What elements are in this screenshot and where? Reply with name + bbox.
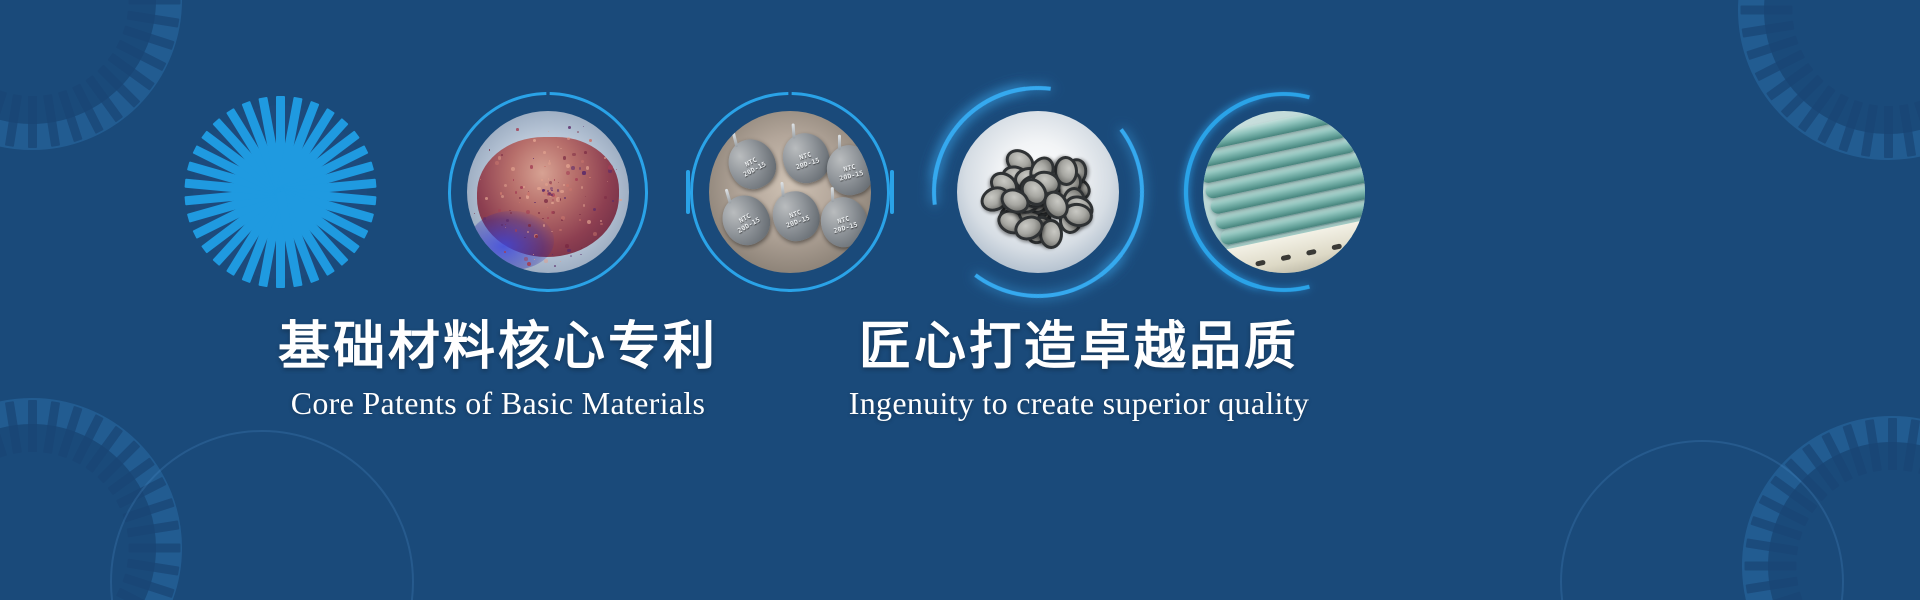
ring-tick-left [686, 170, 690, 214]
arc-ring-with-side-ticks [690, 92, 890, 292]
headline-right-english: Ingenuity to create superior quality [812, 382, 1346, 424]
feature-circle-row: NTC20D-15NTC20D-15NTC20D-15NTC20D-15NTC2… [0, 0, 1920, 300]
hero-banner: NTC20D-15NTC20D-15NTC20D-15NTC20D-15NTC2… [0, 0, 1920, 600]
ring-tick-right [890, 170, 894, 214]
feature-circle-2[interactable] [448, 92, 648, 292]
headline-right: 匠心打造卓越品质 Ingenuity to create superior qu… [812, 318, 1346, 424]
headline-left-english: Core Patents of Basic Materials [248, 382, 748, 424]
feature-circle-4[interactable] [938, 92, 1138, 292]
glowing-quadrant-ring [932, 86, 1144, 298]
headline-left-chinese: 基础材料核心专利 [248, 318, 748, 378]
headline-right-chinese: 匠心打造卓越品质 [812, 318, 1346, 378]
feature-circle-5[interactable] [1184, 92, 1384, 292]
segmented-tick-ring [180, 92, 380, 292]
ring-tick-group [180, 92, 380, 292]
feature-circle-3[interactable]: NTC20D-15NTC20D-15NTC20D-15NTC20D-15NTC2… [690, 92, 890, 292]
headline-row: 基础材料核心专利 Core Patents of Basic Materials… [0, 302, 1920, 482]
headline-left: 基础材料核心专利 Core Patents of Basic Materials [248, 318, 748, 424]
carrier-hole [1204, 270, 1215, 273]
ring-arc-right [1147, 55, 1420, 328]
ring-quadrant-left [889, 43, 1187, 341]
thin-split-arc-ring [448, 92, 648, 292]
ring-arc-lower [407, 51, 690, 334]
ring-arc-lower [649, 51, 932, 334]
feature-circle-1[interactable] [180, 92, 380, 292]
